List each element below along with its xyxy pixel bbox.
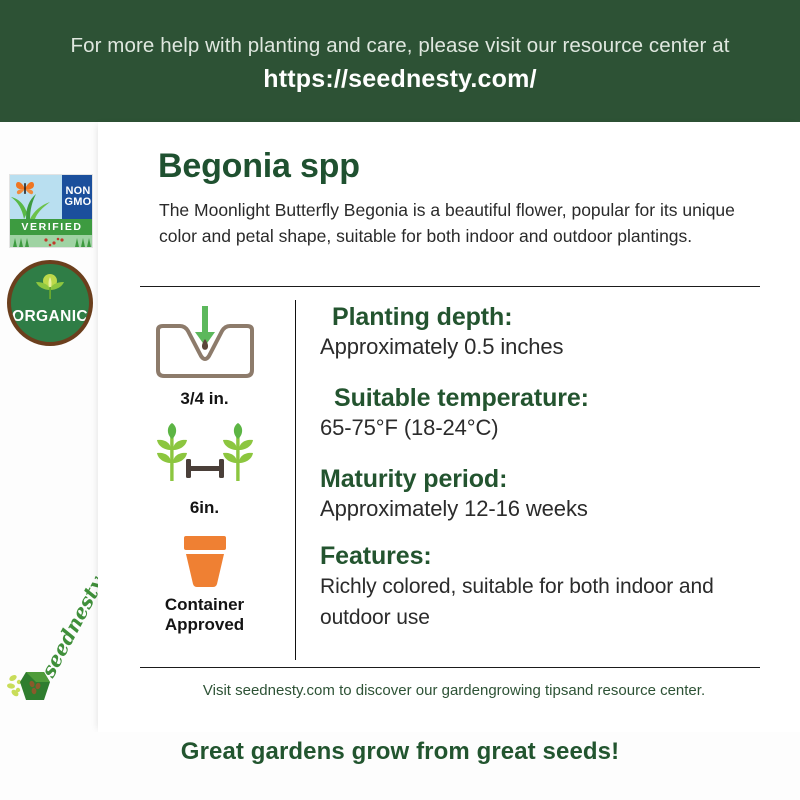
plant-description: The Moonlight Butterfly Begonia is a bea… <box>159 198 759 250</box>
organic-certified-badge: ORGANIC <box>7 260 93 346</box>
info-value-features: Richly colored, suitable for both indoor… <box>320 572 770 633</box>
butterfly-grass-icon <box>10 175 62 219</box>
info-heading-maturity: Maturity period: <box>320 464 770 494</box>
info-heading-temperature: Suitable temperature: <box>320 383 770 413</box>
divider-bottom <box>140 667 760 668</box>
divider-vertical <box>295 300 296 660</box>
planting-depth-furrow-icon <box>146 304 264 382</box>
growing-info-column: Planting depth: Approximately 0.5 inches… <box>320 302 770 649</box>
page-title: Begonia spp <box>158 147 360 186</box>
container-pot-icon <box>146 532 264 588</box>
info-block-planting-depth: Planting depth: Approximately 0.5 inches <box>320 302 770 361</box>
non-gmo-badge-top: NON GMO <box>10 175 93 219</box>
info-value-maturity: Approximately 12-16 weeks <box>320 495 770 523</box>
resource-center-banner: For more help with planting and care, pl… <box>0 0 800 122</box>
info-block-maturity: Maturity period: Approximately 12-16 wee… <box>320 464 770 523</box>
non-gmo-label-box: NON GMO <box>62 175 93 219</box>
seed-packet-page: For more help with planting and care, pl… <box>0 0 800 800</box>
info-value-planting-depth: Approximately 0.5 inches <box>320 333 770 361</box>
growing-icons-column: 3/4 in. <box>122 300 287 635</box>
non-gmo-line2: GMO <box>65 197 92 208</box>
non-gmo-badge-footer-pattern <box>10 235 93 248</box>
left-rail: NON GMO VERIFIED <box>0 122 98 732</box>
banner-website-url[interactable]: https://seednesty.com/ <box>263 63 536 96</box>
info-heading-features: Features: <box>320 541 770 571</box>
plant-spacing-caption: 6in. <box>122 498 287 518</box>
bottom-tagline-bar: Great gardens grow from great seeds! <box>0 732 800 800</box>
banner-help-text: For more help with planting and care, pl… <box>70 33 729 59</box>
plant-spacing-icon-item: 6in. <box>122 423 287 518</box>
info-block-features: Features: Richly colored, suitable for b… <box>320 541 770 633</box>
leaf-sprout-icon <box>33 273 67 305</box>
info-heading-planting-depth: Planting depth: <box>320 302 770 332</box>
non-gmo-verified-badge: NON GMO VERIFIED <box>9 174 93 248</box>
brand-name-text: seednesty <box>36 589 100 681</box>
card-footer-note: Visit seednesty.com to discover our gard… <box>154 682 754 699</box>
plant-spacing-seedlings-icon <box>146 423 264 491</box>
non-gmo-verified-label: VERIFIED <box>10 219 93 235</box>
organic-badge-label: ORGANIC <box>11 308 89 326</box>
divider-top <box>140 286 760 287</box>
info-value-temperature: 65-75°F (18-24°C) <box>320 414 770 442</box>
info-block-temperature: Suitable temperature: 65-75°F (18-24°C) <box>320 383 770 442</box>
brand-logo: seednesty <box>6 662 94 732</box>
planting-depth-caption: 3/4 in. <box>122 389 287 409</box>
container-approved-caption: ContainerApproved <box>122 595 287 635</box>
planting-depth-icon-item: 3/4 in. <box>122 304 287 409</box>
container-approved-icon-item: ContainerApproved <box>122 532 287 635</box>
info-card: Begonia spp The Moonlight Butterfly Bego… <box>98 122 800 732</box>
tagline-text: Great gardens grow from great seeds! <box>181 738 619 766</box>
